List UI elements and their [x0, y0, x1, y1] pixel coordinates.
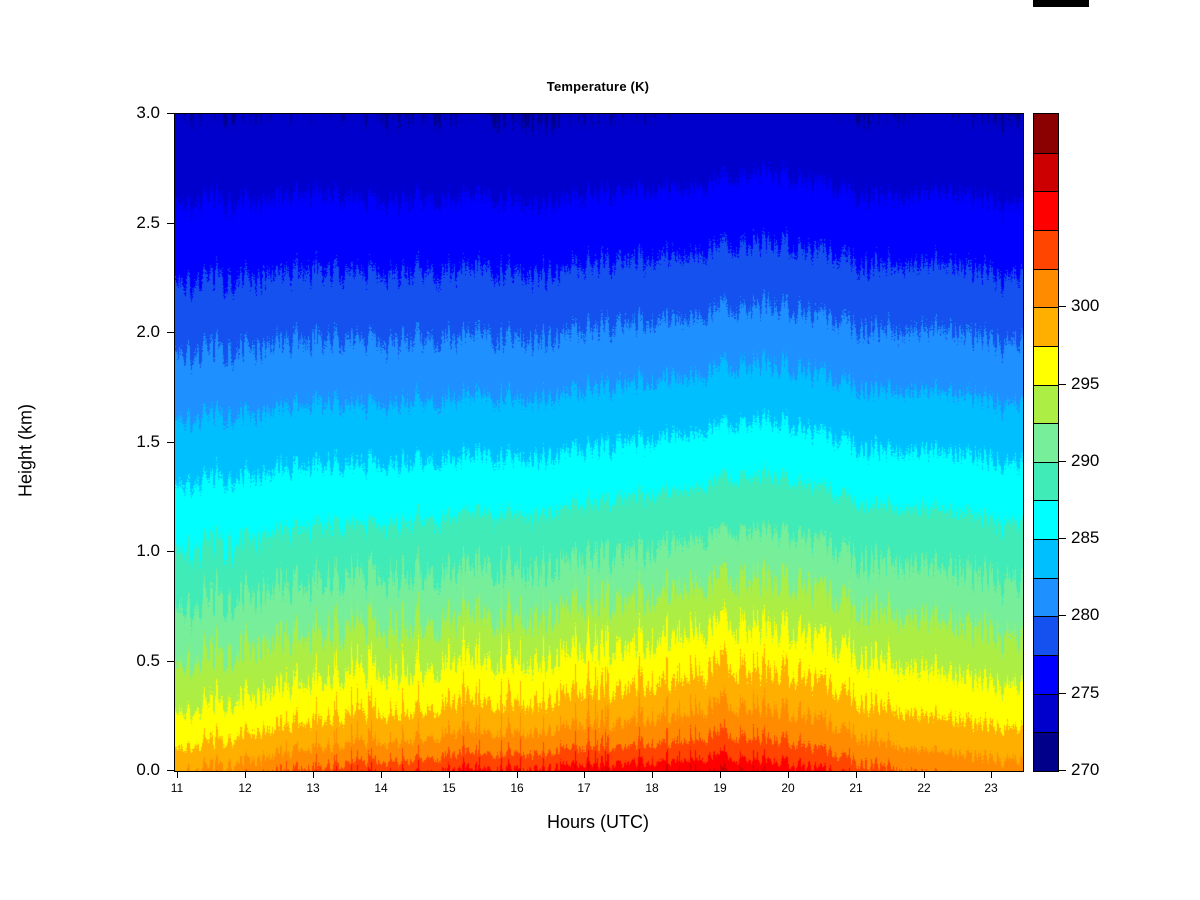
colorbar-cell	[1034, 732, 1058, 771]
colorbar-divider	[1034, 153, 1058, 154]
x-axis-tick	[788, 771, 789, 778]
colorbar-divider	[1034, 616, 1058, 617]
colorbar-divider	[1034, 539, 1058, 540]
colorbar-divider	[1034, 307, 1058, 308]
colorbar-tick	[1058, 770, 1066, 771]
clipped-top-bar	[1033, 0, 1089, 7]
colorbar-cell	[1034, 191, 1058, 230]
colorbar-cell	[1034, 385, 1058, 424]
colorbar-cell	[1034, 578, 1058, 617]
x-axis-title: Hours (UTC)	[174, 812, 1022, 833]
x-axis-tick-label: 19	[713, 781, 726, 795]
x-axis-tick	[924, 771, 925, 778]
colorbar-tick-label: 275	[1071, 683, 1099, 703]
colorbar-cell	[1034, 462, 1058, 501]
colorbar-divider	[1034, 578, 1058, 579]
colorbar-tick-label: 270	[1071, 760, 1099, 780]
x-axis-tick	[517, 771, 518, 778]
y-axis-tick	[167, 661, 174, 662]
y-axis-tick	[167, 551, 174, 552]
x-axis-tick-label: 11	[171, 781, 183, 795]
x-axis-tick	[720, 771, 721, 778]
colorbar-tick	[1058, 538, 1066, 539]
colorbar	[1033, 113, 1059, 772]
colorbar-tick-label: 280	[1071, 605, 1099, 625]
x-axis-tick-label: 17	[577, 781, 590, 795]
colorbar-cell	[1034, 539, 1058, 578]
colorbar-divider	[1034, 462, 1058, 463]
colorbar-tick	[1058, 384, 1066, 385]
colorbar-cell	[1034, 500, 1058, 539]
x-axis-tick	[584, 771, 585, 778]
x-axis-tick	[313, 771, 314, 778]
colorbar-divider	[1034, 694, 1058, 695]
colorbar-tick-label: 285	[1071, 528, 1099, 548]
colorbar-cell	[1034, 114, 1058, 153]
colorbar-cell	[1034, 616, 1058, 655]
x-axis-tick-label: 14	[374, 781, 387, 795]
x-axis-tick-label: 23	[984, 781, 997, 795]
colorbar-divider	[1034, 500, 1058, 501]
y-axis-tick	[167, 770, 174, 771]
x-axis-tick-label: 18	[645, 781, 658, 795]
x-axis-tick	[381, 771, 382, 778]
y-axis-tick-label: 0.0	[110, 760, 160, 780]
y-axis-tick	[167, 113, 174, 114]
colorbar-cell	[1034, 423, 1058, 462]
y-axis-tick-label: 2.5	[110, 213, 160, 233]
colorbar-tick	[1058, 693, 1066, 694]
colorbar-cell	[1034, 153, 1058, 192]
colorbar-divider	[1034, 385, 1058, 386]
colorbar-divider	[1034, 346, 1058, 347]
x-axis-tick	[177, 771, 178, 778]
y-axis-tick	[167, 223, 174, 224]
colorbar-divider	[1034, 732, 1058, 733]
colorbar-tick	[1058, 461, 1066, 462]
x-axis-tick	[991, 771, 992, 778]
colorbar-cell	[1034, 307, 1058, 346]
x-axis-tick-label: 15	[442, 781, 455, 795]
colorbar-divider	[1034, 423, 1058, 424]
colorbar-divider	[1034, 655, 1058, 656]
colorbar-cell	[1034, 655, 1058, 694]
plot-title: Temperature (K)	[174, 79, 1022, 94]
colorbar-divider	[1034, 191, 1058, 192]
colorbar-divider	[1034, 230, 1058, 231]
temperature-heatmap	[175, 114, 1023, 771]
x-axis-tick-label: 21	[849, 781, 862, 795]
x-axis-tick	[856, 771, 857, 778]
y-axis-tick	[167, 442, 174, 443]
y-axis-title: Height (km)	[16, 371, 37, 531]
y-axis-tick-label: 2.0	[110, 322, 160, 342]
heatmap-plot-area	[174, 113, 1024, 772]
figure-canvas: Temperature (K) 111213141516171819202122…	[0, 0, 1200, 900]
colorbar-cell	[1034, 694, 1058, 733]
x-axis-tick-label: 13	[306, 781, 319, 795]
y-axis-tick	[167, 332, 174, 333]
x-axis-tick-label: 22	[917, 781, 930, 795]
colorbar-cell	[1034, 230, 1058, 269]
colorbar-tick-label: 300	[1071, 296, 1099, 316]
colorbar-tick	[1058, 306, 1066, 307]
colorbar-cell	[1034, 346, 1058, 385]
x-axis-tick	[245, 771, 246, 778]
x-axis-tick	[449, 771, 450, 778]
y-axis-tick-label: 3.0	[110, 103, 160, 123]
colorbar-divider	[1034, 269, 1058, 270]
colorbar-tick-label: 295	[1071, 374, 1099, 394]
colorbar-tick	[1058, 615, 1066, 616]
x-axis-tick-label: 20	[781, 781, 794, 795]
colorbar-tick-label: 290	[1071, 451, 1099, 471]
x-axis-tick	[652, 771, 653, 778]
y-axis-tick-label: 0.5	[110, 651, 160, 671]
colorbar-cell	[1034, 269, 1058, 308]
y-axis-tick-label: 1.0	[110, 541, 160, 561]
y-axis-tick-label: 1.5	[110, 432, 160, 452]
x-axis-tick-label: 12	[238, 781, 251, 795]
x-axis-tick-label: 16	[510, 781, 523, 795]
